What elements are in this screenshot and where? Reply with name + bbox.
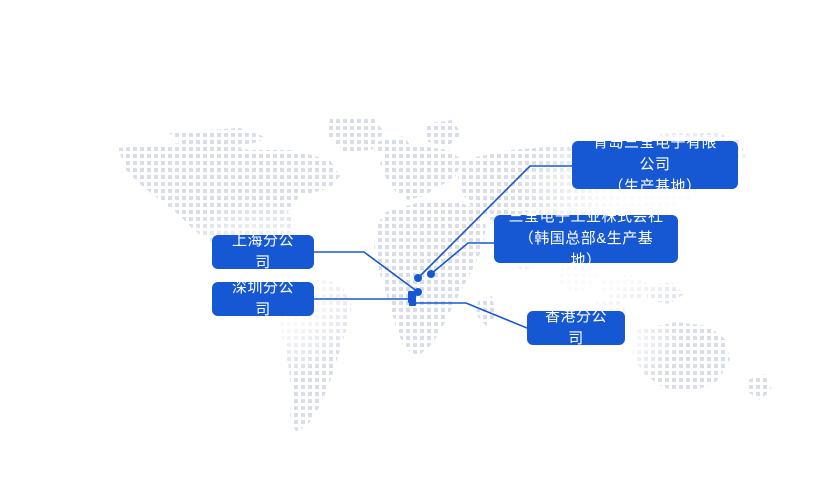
label-korea-line2: （韩国总部&生产基地） [508, 228, 664, 272]
label-shanghai: 上海分公司 [226, 230, 300, 274]
marker-korea[interactable] [427, 270, 435, 278]
label-qingdao-line2: （生产基地） [608, 176, 701, 198]
world-map [0, 0, 824, 480]
label-shenzhen: 深圳分公司 [226, 277, 300, 321]
label-qingdao-line1: 青岛三莹电子有限公司 [586, 132, 724, 176]
label-box-hongkong[interactable]: 香港分公司 [527, 311, 625, 345]
label-hongkong: 香港分公司 [541, 306, 611, 350]
map-infographic: 青岛三莹电子有限公司 （生产基地） 三莹电子工业株式会社 （韩国总部&生产基地）… [0, 0, 824, 480]
marker-qingdao[interactable] [414, 274, 422, 282]
label-box-korea[interactable]: 三莹电子工业株式会社 （韩国总部&生产基地） [494, 215, 678, 263]
label-korea-line1: 三莹电子工业株式会社 [508, 206, 663, 228]
marker-hongkong[interactable] [409, 299, 416, 306]
label-box-shanghai[interactable]: 上海分公司 [212, 235, 314, 269]
world-map-svg [0, 0, 824, 480]
label-box-qingdao[interactable]: 青岛三莹电子有限公司 （生产基地） [572, 141, 738, 189]
label-box-shenzhen[interactable]: 深圳分公司 [212, 282, 314, 316]
